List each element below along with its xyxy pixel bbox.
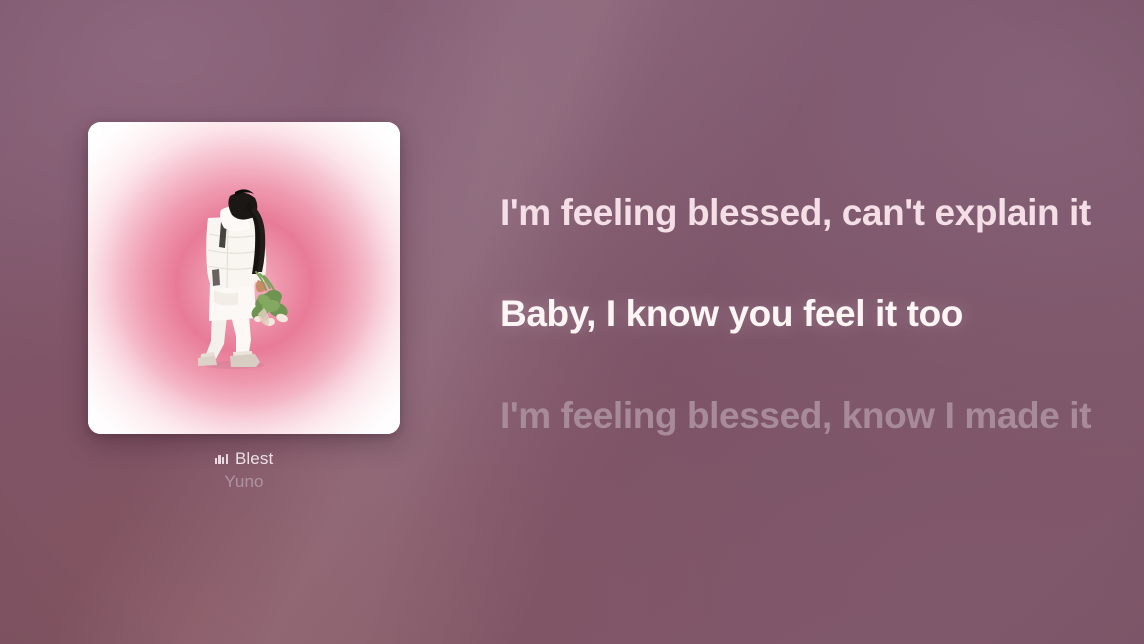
track-artist[interactable]: Yuno xyxy=(88,472,400,492)
artwork-panel: Blest Yuno xyxy=(88,122,400,492)
now-playing-lyrics-screen: Blest Yuno I'm feeling blessed, can't ex… xyxy=(0,0,1144,644)
track-title-row: Blest xyxy=(88,450,400,467)
lyrics-panel[interactable]: I'm feeling blessed, can't explain it Ba… xyxy=(500,186,1100,442)
lyric-line-active[interactable]: Baby, I know you feel it too xyxy=(500,287,1100,340)
lyric-line-past[interactable]: I'm feeling blessed, can't explain it xyxy=(500,186,1100,239)
album-artwork[interactable] xyxy=(88,122,400,434)
track-meta: Blest Yuno xyxy=(88,450,400,492)
artwork-figure xyxy=(88,122,400,434)
track-title: Blest xyxy=(235,450,273,467)
equalizer-bars-icon xyxy=(215,453,228,464)
lyric-line-upcoming[interactable]: I'm feeling blessed, know I made it xyxy=(500,389,1100,442)
